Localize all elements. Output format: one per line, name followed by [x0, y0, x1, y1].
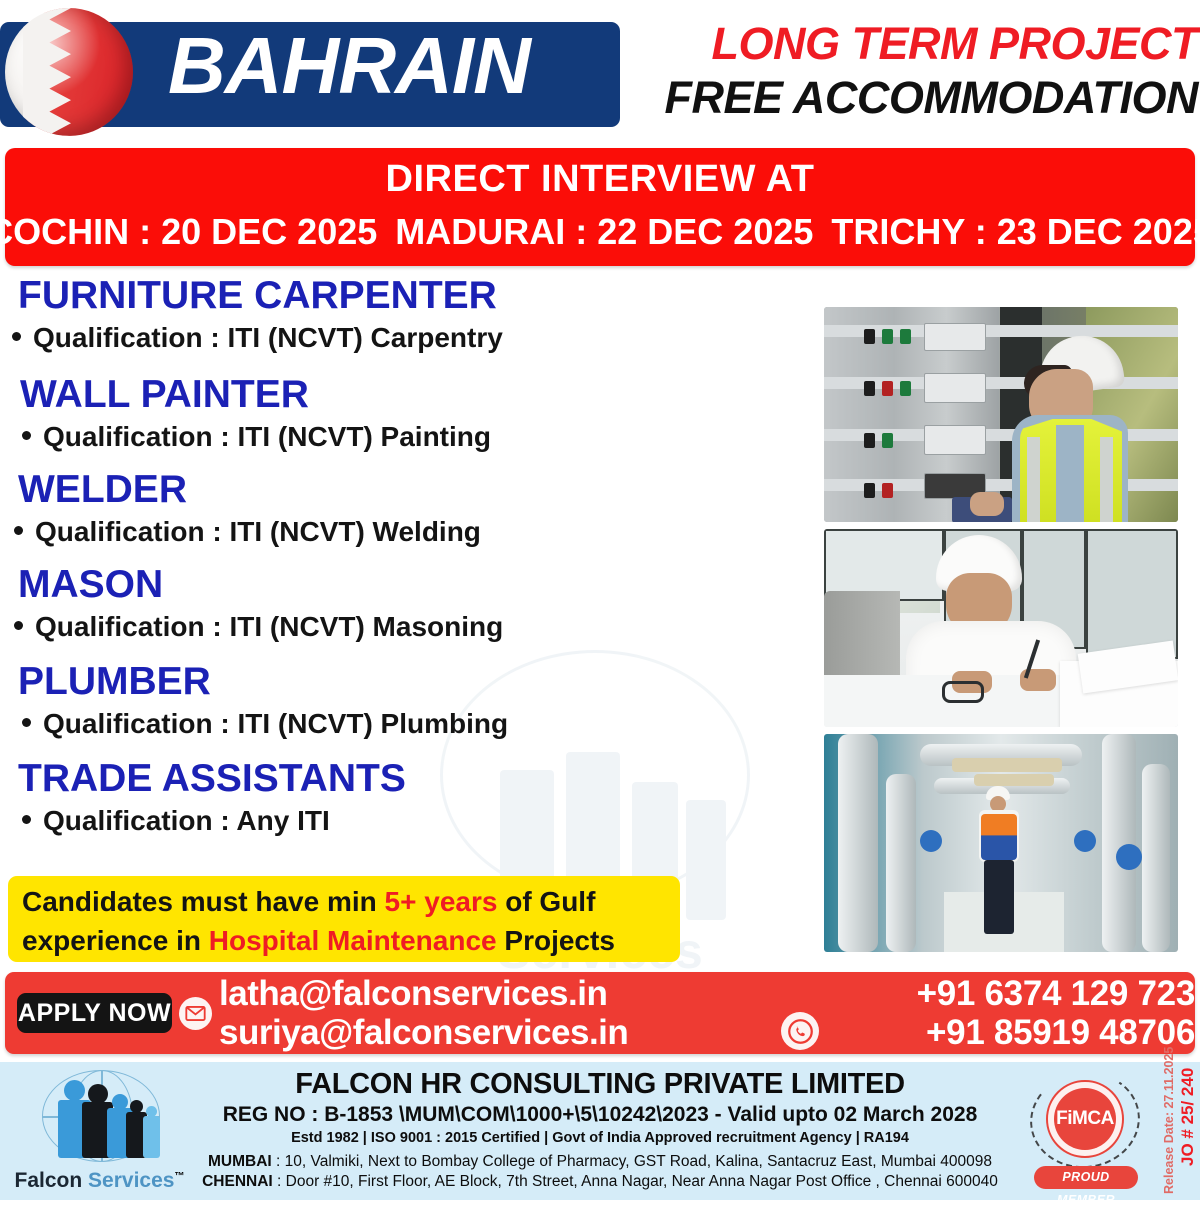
tagline-long-term-project: LONG TERM PROJECT — [628, 18, 1198, 70]
job-qualification: Qualification : ITI (NCVT) Masoning — [35, 611, 503, 642]
bullet-icon — [22, 431, 31, 440]
address-chennai-label: CHENNAI — [202, 1173, 273, 1190]
job-item: MASON Qualification : ITI (NCVT) Masonin… — [0, 561, 810, 646]
header-taglines: LONG TERM PROJECT FREE ACCOMMODATION — [628, 18, 1198, 130]
job-list: FURNITURE CARPENTER Qualification : ITI … — [0, 272, 810, 872]
note-highlight-years: 5+ years — [385, 886, 498, 917]
apply-now-button[interactable]: APPLY NOW — [17, 993, 172, 1033]
job-qualification: Qualification : ITI (NCVT) Carpentry — [33, 322, 503, 353]
job-item: TRADE ASSISTANTS Qualification : Any ITI — [0, 755, 810, 840]
fimca-ribbon: PROUD MEMBER — [1034, 1166, 1138, 1189]
note-highlight-sector: Hospital Maintenance — [209, 925, 497, 956]
bullet-icon — [22, 815, 31, 824]
tagline-free-accommodation: FREE ACCOMMODATION — [628, 70, 1198, 125]
fimca-label: FiMCA — [1056, 1108, 1114, 1130]
phone-primary[interactable]: +91 6374 129 723 — [825, 974, 1195, 1013]
country-name: BAHRAIN — [168, 20, 598, 112]
worker-plant-room-photo — [824, 734, 1178, 952]
interview-location-trichy: TRICHY : 23 DEC 2025 — [828, 211, 1200, 253]
note-line-2: experience in Hospital Maintenance Proje… — [22, 921, 666, 960]
note-text: Candidates must have min — [22, 886, 385, 917]
email-latha[interactable]: latha@falconservices.in — [219, 974, 779, 1013]
company-credentials: Estd 1982 | ISO 9001 : 2015 Certified | … — [190, 1128, 1010, 1148]
phone-whatsapp[interactable]: +91 85919 48706 — [825, 1013, 1195, 1052]
note-text: Projects — [497, 925, 615, 956]
job-title: FURNITURE CARPENTER — [18, 272, 810, 319]
job-title: TRADE ASSISTANTS — [18, 755, 810, 802]
job-item: FURNITURE CARPENTER Qualification : ITI … — [0, 272, 810, 357]
email-list: latha@falconservices.in suriya@falconser… — [219, 974, 779, 1052]
contact-bar: APPLY NOW latha@falconservices.in suriya… — [5, 972, 1195, 1054]
job-title: MASON — [18, 561, 810, 608]
logo-word-services: Services — [88, 1169, 174, 1192]
note-text: experience in — [22, 925, 209, 956]
job-qualification: Qualification : ITI (NCVT) Plumbing — [43, 708, 508, 739]
company-details: FALCON HR CONSULTING PRIVATE LIMITED REG… — [190, 1067, 1010, 1197]
address-mumbai-text: : 10, Valmiki, Next to Bombay College of… — [272, 1153, 992, 1170]
note-line-1: Candidates must have min 5+ years of Gul… — [22, 882, 666, 921]
email-suriya[interactable]: suriya@falconservices.in — [219, 1013, 779, 1052]
whatsapp-icon — [781, 1012, 819, 1050]
poster-header: BAHRAIN LONG TERM PROJECT FREE ACCOMMODA… — [0, 0, 1200, 143]
job-title: PLUMBER — [18, 658, 810, 705]
interview-dates-banner: DIRECT INTERVIEW AT COCHIN : 20 DEC 2025… — [5, 148, 1195, 266]
address-chennai: CHENNAI : Door #10, First Floor, AE Bloc… — [190, 1172, 1010, 1192]
bullet-icon — [14, 621, 23, 630]
address-chennai-text: : Door #10, First Floor, AE Block, 7th S… — [273, 1173, 998, 1190]
envelope-icon — [179, 997, 212, 1030]
logo-text: Falcon Services™ — [12, 1164, 187, 1190]
note-text: of Gulf — [497, 886, 595, 917]
interview-location-cochin: COCHIN : 20 DEC 2025 — [0, 211, 380, 253]
bullet-icon — [22, 718, 31, 727]
bahrain-flag-sphere-icon — [5, 8, 133, 136]
job-qualification: Qualification : ITI (NCVT) Painting — [43, 421, 491, 452]
address-mumbai-label: MUMBAI — [208, 1153, 272, 1170]
job-qualification: Qualification : ITI (NCVT) Welding — [35, 516, 481, 547]
logo-tm: ™ — [174, 1171, 184, 1182]
engineer-desk-blueprint-photo — [824, 529, 1178, 727]
company-registration: REG NO : B-1853 \MUM\COM\1000+\5\10242\2… — [190, 1101, 1010, 1128]
falcon-services-logo: Falcon Services™ — [12, 1068, 187, 1193]
job-qualification: Qualification : Any ITI — [43, 805, 330, 836]
jo-number: JO # 25/ 240 — [1178, 1068, 1198, 1194]
company-name: FALCON HR CONSULTING PRIVATE LIMITED — [190, 1067, 1010, 1101]
interview-location-madurai: MADURAI : 22 DEC 2025 — [392, 211, 816, 253]
job-item: WELDER Qualification : ITI (NCVT) Weldin… — [0, 466, 810, 551]
job-item: PLUMBER Qualification : ITI (NCVT) Plumb… — [0, 658, 810, 743]
address-mumbai: MUMBAI : 10, Valmiki, Next to Bombay Col… — [190, 1152, 1010, 1172]
phone-list: +91 6374 129 723 +91 85919 48706 — [825, 974, 1195, 1052]
release-date: Release Date: 27.11.2025 — [1160, 1068, 1178, 1194]
experience-note: Candidates must have min 5+ years of Gul… — [8, 876, 680, 962]
bullet-icon — [14, 526, 23, 535]
interview-title: DIRECT INTERVIEW AT — [5, 154, 1195, 204]
interview-locations: COCHIN : 20 DEC 2025 MADURAI : 22 DEC 20… — [5, 206, 1195, 258]
technician-electrical-panel-photo — [824, 307, 1178, 522]
job-title: WALL PAINTER — [20, 371, 810, 418]
bullet-icon — [12, 332, 21, 341]
poster-footer: Falcon Services™ FALCON HR CONSULTING PR… — [0, 1062, 1200, 1200]
job-item: WALL PAINTER Qualification : ITI (NCVT) … — [0, 371, 810, 456]
logo-word-falcon: Falcon — [15, 1169, 83, 1192]
fimca-badge: FiMCA PROUD MEMBER — [1020, 1070, 1150, 1192]
job-title: WELDER — [18, 466, 810, 513]
